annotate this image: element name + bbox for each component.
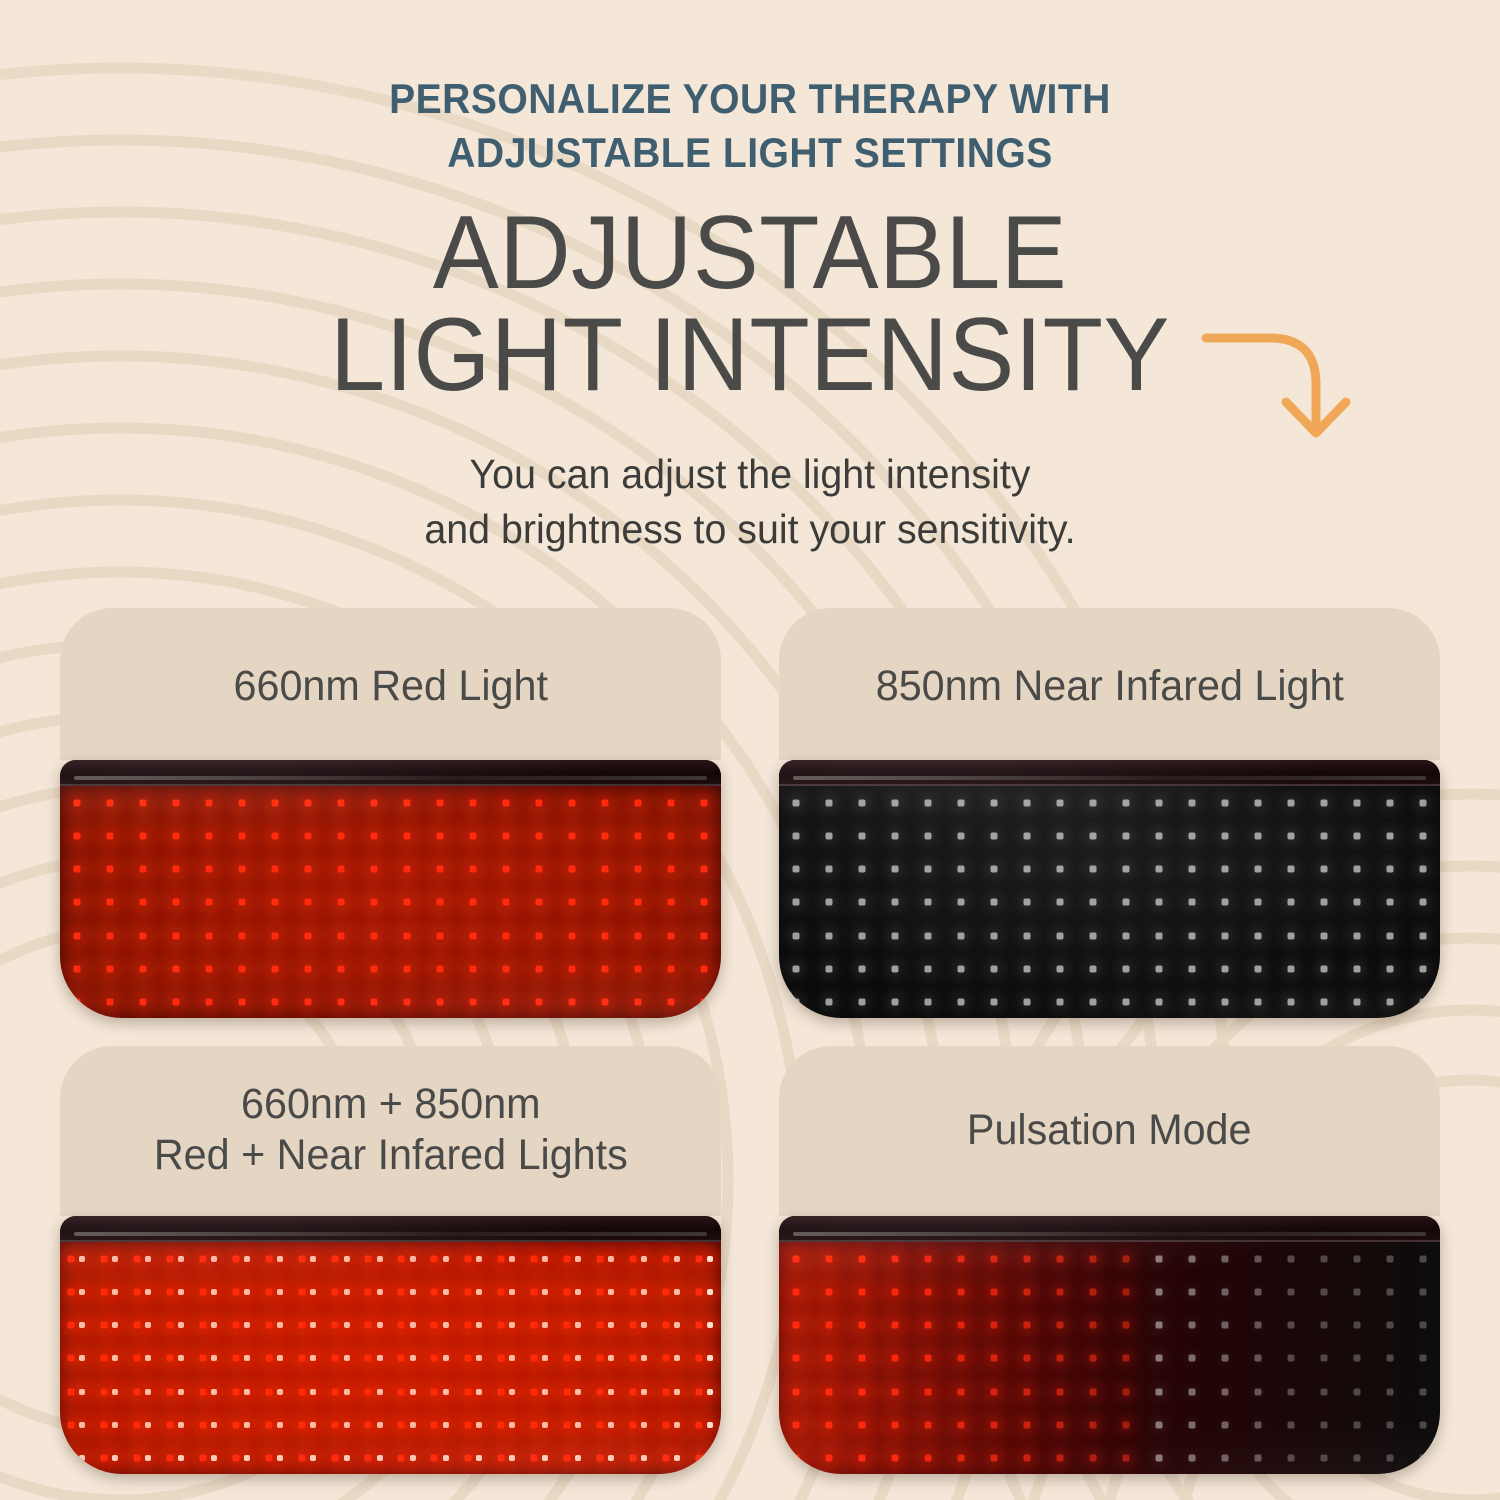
- led-dot: [244, 1322, 250, 1328]
- led-dot: [563, 1421, 570, 1428]
- led-dot: [79, 1355, 85, 1361]
- led-dot: [825, 1355, 832, 1362]
- led-dot: [792, 932, 799, 939]
- led-dot: [536, 833, 543, 840]
- led-dot: [542, 1322, 548, 1328]
- mode-card-pulsation[interactable]: Pulsation Mode: [779, 1046, 1440, 1474]
- led-dot: [1420, 1289, 1427, 1296]
- led-dot: [530, 1355, 537, 1362]
- led-pad-combined: [60, 1216, 721, 1474]
- led-dot: [100, 1421, 107, 1428]
- led-dot: [1321, 998, 1328, 1005]
- led-dot: [530, 1256, 537, 1263]
- led-dot: [825, 800, 832, 807]
- led-dot: [299, 1289, 306, 1296]
- led-dot: [443, 1389, 449, 1395]
- led-dot: [431, 1355, 438, 1362]
- led-dot: [1387, 1421, 1394, 1428]
- led-dot: [575, 1256, 581, 1262]
- led-dot: [536, 932, 543, 939]
- led-dot: [825, 1322, 832, 1329]
- led-dot: [277, 1455, 283, 1461]
- led-dot: [503, 899, 510, 906]
- led-dot: [67, 1322, 74, 1329]
- led-dot: [79, 1289, 85, 1295]
- led-dot: [563, 1256, 570, 1263]
- led-dot: [271, 932, 278, 939]
- led-dot: [569, 800, 576, 807]
- led-dot: [470, 866, 477, 873]
- led-dot: [404, 965, 411, 972]
- led-dot: [1089, 1454, 1096, 1461]
- led-dot: [701, 833, 708, 840]
- led-dot: [635, 800, 642, 807]
- led-dot: [344, 1422, 350, 1428]
- led-dot: [1288, 1388, 1295, 1395]
- led-dot: [377, 1422, 383, 1428]
- led-dot: [431, 1454, 438, 1461]
- led-dot: [437, 965, 444, 972]
- led-dot: [1387, 800, 1394, 807]
- led-dot: [145, 1355, 151, 1361]
- led-dot: [924, 833, 931, 840]
- led-dot: [464, 1355, 471, 1362]
- led-dot: [509, 1289, 515, 1295]
- led-dot: [563, 1454, 570, 1461]
- led-dot: [1255, 899, 1262, 906]
- led-dot: [1123, 1421, 1130, 1428]
- led-dot: [1255, 833, 1262, 840]
- led-dot: [106, 998, 113, 1005]
- led-dot: [1189, 800, 1196, 807]
- led-dot: [67, 1256, 74, 1263]
- led-dot: [134, 1421, 141, 1428]
- led-dot: [106, 866, 113, 873]
- led-dot: [629, 1289, 636, 1296]
- led-dot: [344, 1355, 350, 1361]
- led-dot: [244, 1389, 250, 1395]
- led-dot: [1354, 998, 1361, 1005]
- led-dot: [1056, 932, 1063, 939]
- led-dot: [1156, 1388, 1163, 1395]
- led-dot: [139, 866, 146, 873]
- led-dot: [825, 965, 832, 972]
- led-dot: [1156, 1289, 1163, 1296]
- led-dot: [695, 1454, 702, 1461]
- led-dot: [310, 1322, 316, 1328]
- led-dot: [344, 1455, 350, 1461]
- led-dot: [792, 965, 799, 972]
- led-dot: [635, 998, 642, 1005]
- led-dot: [662, 1355, 669, 1362]
- led-dot: [792, 1355, 799, 1362]
- led-dot: [410, 1289, 416, 1295]
- led-dot: [377, 1322, 383, 1328]
- led-dot: [337, 899, 344, 906]
- led-dot: [134, 1322, 141, 1329]
- led-dot: [602, 833, 609, 840]
- led-dot: [464, 1256, 471, 1263]
- led-dot: [1156, 998, 1163, 1005]
- led-dot: [365, 1322, 372, 1329]
- led-dot: [792, 1421, 799, 1428]
- led-dot: [1354, 899, 1361, 906]
- led-dot: [134, 1289, 141, 1296]
- led-dot: [858, 1256, 865, 1263]
- led-dot: [310, 1422, 316, 1428]
- led-dot: [1189, 1355, 1196, 1362]
- led-dot: [398, 1289, 405, 1296]
- led-dot: [792, 1388, 799, 1395]
- led-dot: [695, 1256, 702, 1263]
- led-dot: [1189, 932, 1196, 939]
- led-dot: [858, 1355, 865, 1362]
- led-dot: [575, 1422, 581, 1428]
- led-dot: [602, 932, 609, 939]
- led-dot: [100, 1454, 107, 1461]
- led-dot: [211, 1256, 217, 1262]
- led-dot: [858, 1454, 865, 1461]
- led-dot: [1089, 899, 1096, 906]
- led-dot: [200, 1322, 207, 1329]
- led-dot: [1354, 1322, 1361, 1329]
- led-dot: [1321, 1454, 1328, 1461]
- led-dot: [1023, 866, 1030, 873]
- eyebrow-line-1: PERSONALIZE YOUR THERAPY WITH: [53, 72, 1448, 126]
- mode-card-near-infrared[interactable]: 850nm Near Infared Light: [779, 608, 1440, 1018]
- led-dot: [266, 1388, 273, 1395]
- led-dot: [503, 932, 510, 939]
- led-dot: [629, 1256, 636, 1263]
- led-dot: [332, 1355, 339, 1362]
- led-dot: [509, 1422, 515, 1428]
- led-dot: [244, 1289, 250, 1295]
- led-dot: [1222, 800, 1229, 807]
- led-dot: [145, 1322, 151, 1328]
- led-dot: [370, 998, 377, 1005]
- led-dot: [1354, 800, 1361, 807]
- led-dot: [1056, 1388, 1063, 1395]
- led-dot: [1156, 1454, 1163, 1461]
- led-dot: [503, 800, 510, 807]
- led-dot: [410, 1422, 416, 1428]
- led-dot: [1222, 1355, 1229, 1362]
- led-dot: [1089, 1289, 1096, 1296]
- led-dot: [277, 1355, 283, 1361]
- led-dot: [825, 1454, 832, 1461]
- led-dot: [205, 833, 212, 840]
- led-dot: [990, 932, 997, 939]
- led-dot: [1156, 932, 1163, 939]
- led-dot: [957, 866, 964, 873]
- led-dot: [100, 1289, 107, 1296]
- led-dot: [73, 833, 80, 840]
- led-dot: [1123, 965, 1130, 972]
- led-dot: [244, 1422, 250, 1428]
- led-dot: [238, 800, 245, 807]
- led-dot: [1189, 1289, 1196, 1296]
- subheading: You can adjust the light intensity and b…: [30, 447, 1470, 556]
- led-dot: [641, 1355, 647, 1361]
- led-dot: [470, 965, 477, 972]
- led-dot: [1387, 965, 1394, 972]
- led-dot: [211, 1422, 217, 1428]
- led-dot: [205, 932, 212, 939]
- led-dot: [377, 1355, 383, 1361]
- led-dot: [1255, 800, 1262, 807]
- led-dot: [310, 1256, 316, 1262]
- led-dot: [1222, 998, 1229, 1005]
- led-dot: [674, 1322, 680, 1328]
- led-dot: [437, 833, 444, 840]
- led-dot: [1156, 866, 1163, 873]
- led-dot: [891, 1256, 898, 1263]
- led-dot: [891, 800, 898, 807]
- led-dot: [701, 866, 708, 873]
- led-dot: [310, 1355, 316, 1361]
- led-pad-pulsation: [779, 1216, 1440, 1474]
- led-dot: [1023, 1256, 1030, 1263]
- led-dot: [530, 1454, 537, 1461]
- led-dot: [370, 800, 377, 807]
- led-dot: [1354, 932, 1361, 939]
- led-dot: [299, 1454, 306, 1461]
- led-dot: [139, 965, 146, 972]
- header-section: PERSONALIZE YOUR THERAPY WITH ADJUSTABLE…: [0, 0, 1500, 556]
- led-dot: [205, 866, 212, 873]
- led-dot: [73, 899, 80, 906]
- led-dot: [957, 998, 964, 1005]
- led-dot: [608, 1355, 614, 1361]
- led-dot: [563, 1289, 570, 1296]
- led-dot: [629, 1355, 636, 1362]
- led-dot: [139, 833, 146, 840]
- led-dot: [238, 932, 245, 939]
- led-dot: [668, 800, 675, 807]
- led-dot: [167, 1388, 174, 1395]
- led-dot: [476, 1422, 482, 1428]
- led-dot: [695, 1355, 702, 1362]
- led-dot: [377, 1256, 383, 1262]
- led-dot: [792, 833, 799, 840]
- led-dot: [370, 866, 377, 873]
- led-dot: [178, 1389, 184, 1395]
- led-dot: [891, 998, 898, 1005]
- led-dot: [1123, 932, 1130, 939]
- led-dot: [1023, 1289, 1030, 1296]
- led-dot: [629, 1322, 636, 1329]
- led-dot: [608, 1455, 614, 1461]
- led-dot: [398, 1388, 405, 1395]
- led-dot: [431, 1322, 438, 1329]
- pad-seam: [60, 1216, 721, 1242]
- led-dot: [277, 1389, 283, 1395]
- led-dot: [1156, 1256, 1163, 1263]
- led-dot: [957, 1355, 964, 1362]
- led-dot: [957, 1421, 964, 1428]
- led-dot: [1255, 866, 1262, 873]
- led-dot: [1354, 1289, 1361, 1296]
- led-dot: [304, 800, 311, 807]
- led-dot: [596, 1256, 603, 1263]
- led-dot: [470, 899, 477, 906]
- led-dot: [924, 866, 931, 873]
- led-dot: [1255, 1256, 1262, 1263]
- led-dot: [1387, 1289, 1394, 1296]
- led-dot: [924, 899, 931, 906]
- led-dot: [1255, 1388, 1262, 1395]
- led-dot: [1123, 800, 1130, 807]
- led-dot: [244, 1256, 250, 1262]
- led-dot: [398, 1421, 405, 1428]
- led-dot: [858, 866, 865, 873]
- led-dot: [641, 1389, 647, 1395]
- mode-card-panel: 660nm Red Light: [60, 608, 721, 760]
- eyebrow-line-2: ADJUSTABLE LIGHT SETTINGS: [53, 126, 1448, 180]
- led-dot: [695, 1421, 702, 1428]
- led-dot: [542, 1256, 548, 1262]
- led-dot: [1420, 899, 1427, 906]
- led-dot: [674, 1256, 680, 1262]
- led-dot: [398, 1322, 405, 1329]
- led-dot: [100, 1388, 107, 1395]
- led-dot: [707, 1422, 713, 1428]
- led-dot: [1222, 1454, 1229, 1461]
- led-dot: [858, 1388, 865, 1395]
- led-dot: [233, 1289, 240, 1296]
- led-dot: [1222, 833, 1229, 840]
- led-dot: [337, 800, 344, 807]
- mode-card-panel: 850nm Near Infared Light: [779, 608, 1440, 760]
- led-dot: [1056, 1322, 1063, 1329]
- led-dot: [530, 1289, 537, 1296]
- led-dot: [431, 1289, 438, 1296]
- mode-card-combined[interactable]: 660nm + 850nm Red + Near Infared Lights: [60, 1046, 721, 1474]
- led-dot: [145, 1389, 151, 1395]
- led-dot: [233, 1322, 240, 1329]
- led-dot: [674, 1389, 680, 1395]
- led-dot: [1156, 965, 1163, 972]
- led-dot: [172, 965, 179, 972]
- led-dot: [497, 1289, 504, 1296]
- led-pad-red: [60, 760, 721, 1018]
- led-dot: [825, 1388, 832, 1395]
- led-dot: [167, 1289, 174, 1296]
- led-dot: [1189, 1322, 1196, 1329]
- led-dot: [299, 1256, 306, 1263]
- led-dot: [792, 1256, 799, 1263]
- led-dot: [858, 1322, 865, 1329]
- led-dot: [304, 899, 311, 906]
- led-dot: [891, 965, 898, 972]
- led-dot: [542, 1422, 548, 1428]
- led-dot: [825, 833, 832, 840]
- led-dot: [443, 1355, 449, 1361]
- led-dot: [674, 1422, 680, 1428]
- led-dot: [497, 1355, 504, 1362]
- led-dot: [172, 800, 179, 807]
- led-dot: [1156, 1322, 1163, 1329]
- led-dot: [1288, 965, 1295, 972]
- led-dot: [304, 965, 311, 972]
- led-dot: [266, 1256, 273, 1263]
- led-dot: [106, 899, 113, 906]
- led-pad-near-infrared: [779, 760, 1440, 1018]
- led-dot: [1420, 1388, 1427, 1395]
- led-dot: [211, 1389, 217, 1395]
- led-dot: [1288, 833, 1295, 840]
- led-dot: [134, 1454, 141, 1461]
- led-dot: [337, 833, 344, 840]
- led-dot: [563, 1322, 570, 1329]
- led-dot: [1387, 899, 1394, 906]
- led-dot: [1255, 998, 1262, 1005]
- led-dot: [299, 1421, 306, 1428]
- led-dot: [641, 1322, 647, 1328]
- led-dot: [1023, 899, 1030, 906]
- led-dot: [1288, 866, 1295, 873]
- led-dot: [542, 1455, 548, 1461]
- led-dot: [277, 1289, 283, 1295]
- led-dot: [701, 932, 708, 939]
- led-dot: [1156, 1421, 1163, 1428]
- led-dot: [990, 1322, 997, 1329]
- led-dot: [503, 965, 510, 972]
- led-dot: [563, 1355, 570, 1362]
- led-dot: [67, 1454, 74, 1461]
- led-dot: [211, 1455, 217, 1461]
- led-dot: [145, 1422, 151, 1428]
- led-dot: [464, 1454, 471, 1461]
- mode-card-red-light[interactable]: 660nm Red Light: [60, 608, 721, 1018]
- led-dot: [404, 932, 411, 939]
- eyebrow-heading: PERSONALIZE YOUR THERAPY WITH ADJUSTABLE…: [53, 72, 1448, 180]
- led-dot: [662, 1289, 669, 1296]
- led-dot: [304, 833, 311, 840]
- led-dot: [1023, 833, 1030, 840]
- led-dot: [1023, 965, 1030, 972]
- led-dot: [503, 833, 510, 840]
- led-dot: [106, 932, 113, 939]
- led-dot: [244, 1455, 250, 1461]
- led-dot: [271, 833, 278, 840]
- led-dot: [73, 998, 80, 1005]
- led-dot: [503, 866, 510, 873]
- led-dot: [825, 1256, 832, 1263]
- led-dot: [1023, 1388, 1030, 1395]
- led-dot: [437, 866, 444, 873]
- led-dot: [238, 998, 245, 1005]
- led-dot: [1354, 1421, 1361, 1428]
- mode-card-panel: Pulsation Mode: [779, 1046, 1440, 1216]
- led-dot: [233, 1355, 240, 1362]
- led-dot: [244, 1355, 250, 1361]
- led-dot: [569, 998, 576, 1005]
- led-dot: [365, 1256, 372, 1263]
- led-dot: [178, 1355, 184, 1361]
- led-dot: [662, 1388, 669, 1395]
- led-dot: [476, 1289, 482, 1295]
- led-dot: [443, 1256, 449, 1262]
- led-dot: [470, 800, 477, 807]
- led-dot: [1189, 866, 1196, 873]
- led-dot: [924, 1289, 931, 1296]
- led-dot: [924, 800, 931, 807]
- led-dot: [668, 833, 675, 840]
- led-dot: [1321, 899, 1328, 906]
- led-dot: [145, 1455, 151, 1461]
- led-dot: [410, 1256, 416, 1262]
